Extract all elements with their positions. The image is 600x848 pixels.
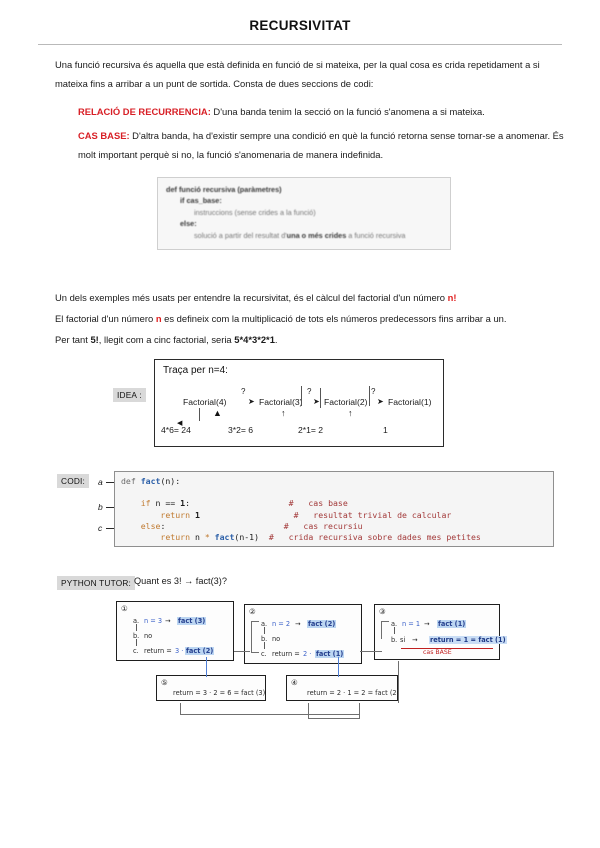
return-line-4-across	[308, 718, 360, 719]
definition-label-recurrence: RELACIÓ DE RECURRENCIA:	[78, 106, 211, 117]
step-1-line-c-arrow: 3 ·	[175, 647, 183, 655]
trace-result-2: 3*2= 6	[228, 425, 253, 435]
step-1-line-a-arrow: →	[165, 617, 171, 625]
step-1-line-b-expr: no	[144, 632, 152, 640]
pseudocode-line-5-a: solució a partir del resultat d'	[194, 231, 287, 240]
code-marker-a: a	[98, 477, 103, 487]
example-line-3-c: , llegit com a cinc factorial, seria	[99, 334, 234, 345]
step-3-line-b-expr: si	[400, 636, 405, 644]
definition-text-recurrence: D'una banda tenim la secció on la funció…	[211, 106, 485, 117]
pseudocode-line-1: def funció recursiva (paràmetres)	[166, 184, 450, 195]
trace-qmark-3: ?	[371, 387, 375, 396]
trace-arrow-3: ➤	[377, 397, 384, 406]
pseudocode-box: def funció recursiva (paràmetres) if cas…	[157, 177, 451, 250]
pseudocode-content: def funció recursiva (paràmetres) if cas…	[158, 178, 450, 241]
connector-1-to-2	[234, 651, 250, 652]
return-line-4-down	[308, 703, 309, 719]
step-4-number: ④	[291, 678, 298, 687]
step-3-number: ③	[379, 607, 386, 616]
step-2-line-c-call: fact (1)	[315, 650, 344, 658]
step-3-line-a-call: fact (1)	[437, 620, 466, 628]
example-line-3: Per tant 5!, llegit com a cinc factorial…	[55, 330, 563, 349]
example-paragraphs: Un dels exemples més usats per entendre …	[55, 288, 563, 351]
code-marker-c: c	[98, 523, 102, 533]
step-2-flow-1	[264, 627, 265, 634]
step-3-line-b-arrow: →	[412, 636, 418, 644]
trace-result-4: 1	[383, 425, 388, 435]
step-2-bracket-top	[251, 621, 259, 622]
return-line-3-down	[398, 661, 399, 703]
step-2-box: ② a. n = 2 → fact (2) b. no c. return = …	[244, 604, 362, 664]
step-1-line-a-expr: n = 3	[144, 617, 162, 625]
trace-node-4: Factorial(1)	[388, 397, 431, 407]
example-line-1-n: n!	[448, 292, 457, 303]
trace-node-3: Factorial(2)	[324, 397, 367, 407]
definition-base-case: CAS BASE: D'altra banda, ha d'existir se…	[78, 126, 564, 164]
step-3-annotation: cas BASE	[423, 649, 452, 656]
python-tutor-question: Quant es 3! → fact(3)?	[134, 576, 227, 586]
step-3-bracket	[381, 621, 382, 639]
example-line-1-text: Un dels exemples més usats per entendre …	[55, 292, 448, 303]
step-5-expr: return = 3 · 2 = 6 = fact (3)	[173, 689, 265, 697]
step-5-box: ⑤ return = 3 · 2 = 6 = fact (3)	[156, 675, 266, 701]
step-4-expr: return = 2 · 1 = 2 = fact (2)	[307, 689, 399, 697]
connector-2-to-3	[360, 651, 382, 652]
code-marker-b: b	[98, 502, 103, 512]
blue-link-2	[338, 657, 339, 677]
step-1-number: ①	[121, 604, 128, 613]
step-5-number: ⑤	[161, 678, 168, 687]
trace-qmark-1: ?	[241, 387, 245, 396]
step-2-number: ②	[249, 607, 256, 616]
step-1-line-a-call: fact (3)	[177, 617, 206, 625]
definition-text-base-case: D'altra banda, ha d'existir sempre una c…	[78, 130, 564, 160]
trace-title: Traça per n=4:	[163, 365, 228, 376]
example-line-3-a: Per tant	[55, 334, 90, 345]
step-2-line-a-call: fact (2)	[307, 620, 336, 628]
trace-separator-3	[369, 386, 370, 406]
trace-separator-2	[320, 388, 321, 408]
step-2-bracket-bottom	[251, 652, 259, 653]
pseudocode-line-4: else:	[166, 218, 450, 229]
trace-separator-4	[199, 408, 200, 421]
example-line-3-e: .	[275, 334, 278, 345]
trace-diagram: Traça per n=4: ? ? ? Factorial(4) ➤ Fact…	[154, 359, 444, 447]
step-3-flow-1	[394, 627, 395, 634]
step-1-line-c-call: fact (2)	[185, 647, 214, 655]
pseudocode-line-3: instruccions (sense crides a la funció)	[166, 207, 450, 218]
title-divider	[38, 44, 562, 45]
step-1-line-c-label: c.	[133, 647, 139, 655]
return-line-4-up	[359, 703, 360, 719]
trace-arrow-2: ➤	[313, 397, 320, 406]
step-1-line-c-expr: return =	[144, 647, 172, 655]
blue-link-1	[206, 657, 207, 677]
step-2-line-c-expr: return =	[272, 650, 300, 658]
definitions-block: RELACIÓ DE RECURRENCIA: D'una banda teni…	[78, 102, 564, 169]
step-2-line-a-expr: n = 2	[272, 620, 290, 628]
code-block: def fact(n): if n == 1: # cas base retur…	[114, 471, 554, 547]
step-1-flow-1	[136, 624, 137, 631]
idea-tag: IDEA :	[113, 388, 146, 402]
trace-arrow-1: ➤	[248, 397, 255, 406]
pseudocode-line-5-bold: una o més crides	[287, 231, 347, 240]
step-2-bracket	[251, 621, 252, 653]
example-line-3-b: 5!	[90, 334, 98, 345]
example-line-3-d: 5*4*3*2*1	[234, 334, 275, 345]
trace-separator-1	[301, 386, 302, 406]
step-2-flow-2	[264, 642, 265, 649]
example-line-2-b: es defineix com la multiplicació de tots…	[162, 313, 507, 324]
trace-qmark-2: ?	[307, 387, 311, 396]
step-2-line-c-label: c.	[261, 650, 267, 658]
codi-tag: CODI:	[57, 474, 89, 488]
python-tutor-sketch: ① a. n = 3 → fact (3) b. no c. return = …	[110, 595, 515, 725]
pseudocode-line-5-c: a funció recursiva	[346, 231, 405, 240]
trace-result-3: 2*1= 2	[298, 425, 323, 435]
step-3-line-b-label: b.	[391, 636, 397, 644]
python-tutor-tag: PYTHON TUTOR:	[57, 576, 135, 590]
step-3-line-a-expr: n = 1	[402, 620, 420, 628]
step-3-line-b-call: return = 1 = fact (1)	[429, 636, 507, 644]
example-line-1: Un dels exemples més usats per entendre …	[55, 288, 563, 307]
example-line-2: El factorial d'un número n es defineix c…	[55, 309, 563, 328]
step-1-flow-2	[136, 639, 137, 646]
trace-node-2: Factorial(3)	[259, 397, 302, 407]
return-line-5-across	[180, 714, 360, 715]
step-3-line-a-arrow: →	[424, 620, 430, 628]
step-2-line-c-arrow: 2 ·	[303, 650, 311, 658]
trace-node-1: Factorial(4)	[183, 397, 226, 407]
step-1-box: ① a. n = 3 → fact (3) b. no c. return = …	[116, 601, 234, 661]
step-2-line-b-expr: no	[272, 635, 280, 643]
step-4-box: ④ return = 2 · 1 = 2 = fact (2)	[286, 675, 398, 701]
code-content: def fact(n): if n == 1: # cas base retur…	[115, 472, 553, 543]
example-line-2-a: El factorial d'un número	[55, 313, 156, 324]
pseudocode-line-5: solució a partir del resultat d'una o mé…	[166, 230, 450, 241]
definition-recurrence: RELACIÓ DE RECURRENCIA: D'una banda teni…	[78, 102, 564, 121]
step-3-bracket-top	[381, 621, 389, 622]
definition-label-base-case: CAS BASE:	[78, 130, 130, 141]
step-3-box: ③ a. n = 1 → fact (1) b. si → return = 1…	[374, 604, 500, 660]
page-title: RECURSIVITAT	[0, 18, 600, 33]
connector-dot	[234, 651, 235, 652]
trace-result-1: 4*6= 24	[161, 425, 191, 435]
document-page: RECURSIVITAT Una funció recursiva és aqu…	[0, 0, 600, 848]
pseudocode-line-2: if cas_base:	[166, 195, 450, 206]
step-2-line-a-arrow: →	[295, 620, 301, 628]
intro-paragraph: Una funció recursiva és aquella que està…	[55, 55, 563, 93]
